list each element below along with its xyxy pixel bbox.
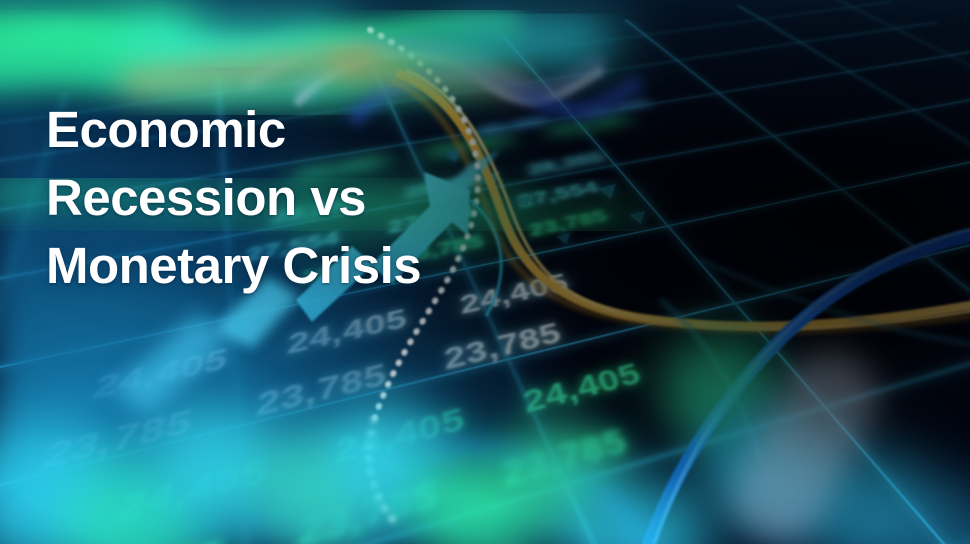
title-line-3: Monetary Crisis (46, 232, 606, 300)
title-line-1: Economic (46, 96, 606, 164)
hero-banner: 28,35528,35528,35528,35528,35528,35528,3… (0, 0, 970, 544)
page-title: Economic Recession vs Monetary Crisis (46, 96, 606, 300)
title-line-2: Recession vs (46, 164, 606, 232)
